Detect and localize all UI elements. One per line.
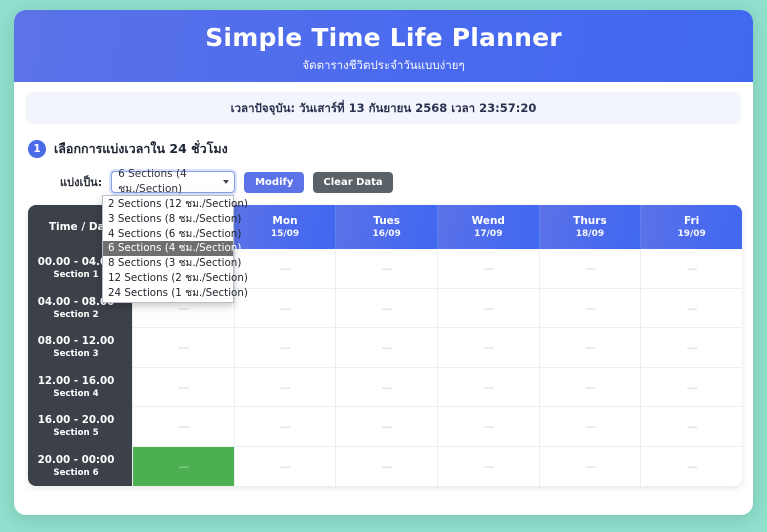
schedule-cell[interactable]: —: [234, 328, 336, 368]
cell-placeholder: —: [280, 382, 290, 393]
section-count-select-value: 6 Sections (4 ชม./Section): [118, 168, 218, 197]
dropdown-option[interactable]: 2 Sections (12 ชม./Section): [103, 197, 233, 212]
clear-data-button[interactable]: Clear Data: [313, 172, 392, 193]
cell-placeholder: —: [585, 461, 595, 472]
cell-placeholder: —: [280, 421, 290, 432]
schedule-cell[interactable]: —: [640, 447, 742, 487]
schedule-cell[interactable]: —: [437, 249, 539, 289]
schedule-cell[interactable]: —: [539, 328, 641, 368]
cell-placeholder: —: [483, 303, 493, 314]
step-one-section: 1 เลือกการแบ่งเวลาใน 24 ชั่วโมง แบ่งเป็น…: [14, 124, 753, 193]
cell-placeholder: —: [483, 382, 493, 393]
table-row: 20.00 - 00:00Section 6——————: [28, 447, 742, 487]
day-name: Mon: [235, 215, 336, 228]
cell-placeholder: —: [687, 382, 697, 393]
cell-placeholder: —: [280, 263, 290, 274]
schedule-cell[interactable]: —: [132, 328, 234, 368]
section-label: Section 4: [28, 388, 124, 400]
cell-placeholder: —: [585, 342, 595, 353]
schedule-cell[interactable]: —: [539, 249, 641, 289]
day-date: 18/09: [540, 228, 641, 240]
dropdown-option[interactable]: 12 Sections (2 ชม./Section): [103, 271, 233, 286]
day-name: Thurs: [540, 215, 641, 228]
schedule-cell[interactable]: —: [335, 368, 437, 408]
cell-placeholder: —: [382, 342, 392, 353]
cell-placeholder: —: [178, 461, 188, 472]
cell-placeholder: —: [585, 263, 595, 274]
schedule-cell[interactable]: —: [640, 368, 742, 408]
schedule-cell[interactable]: —: [640, 407, 742, 447]
day-column-header: Wend17/09: [437, 205, 539, 249]
table-row: 08.00 - 12.00Section 3——————: [28, 328, 742, 368]
schedule-cell[interactable]: —: [335, 328, 437, 368]
schedule-cell[interactable]: —: [335, 407, 437, 447]
schedule-cell[interactable]: —: [437, 407, 539, 447]
schedule-cell[interactable]: —: [132, 407, 234, 447]
schedule-cell[interactable]: —: [335, 249, 437, 289]
day-column-header: Tues16/09: [335, 205, 437, 249]
day-date: 19/09: [641, 228, 742, 240]
cell-placeholder: —: [178, 382, 188, 393]
chevron-down-icon: [223, 180, 229, 184]
cell-placeholder: —: [687, 461, 697, 472]
controls-row: แบ่งเป็น: 6 Sections (4 ชม./Section) Mod…: [60, 171, 753, 193]
time-range-cell: 16.00 - 20.00Section 5: [28, 407, 132, 447]
schedule-cell[interactable]: —: [234, 249, 336, 289]
day-column-header: Fri19/09: [640, 205, 742, 249]
day-column-header: Mon15/09: [234, 205, 336, 249]
schedule-cell[interactable]: —: [640, 289, 742, 329]
schedule-cell[interactable]: —: [335, 289, 437, 329]
cell-placeholder: —: [585, 421, 595, 432]
section-label: Section 6: [28, 467, 124, 479]
time-range-cell: 08.00 - 12.00Section 3: [28, 328, 132, 368]
cell-placeholder: —: [178, 421, 188, 432]
schedule-cell[interactable]: —: [539, 368, 641, 408]
day-column-header: Thurs18/09: [539, 205, 641, 249]
schedule-cell[interactable]: —: [234, 407, 336, 447]
table-row: 12.00 - 16.00Section 4——————: [28, 368, 742, 408]
section-label: Section 5: [28, 427, 124, 439]
schedule-cell[interactable]: —: [640, 328, 742, 368]
schedule-cell[interactable]: —: [132, 368, 234, 408]
schedule-cell[interactable]: —: [234, 447, 336, 487]
cell-placeholder: —: [687, 303, 697, 314]
dropdown-option[interactable]: 6 Sections (4 ชม./Section): [103, 241, 233, 256]
schedule-cell[interactable]: —: [234, 289, 336, 329]
day-name: Wend: [438, 215, 539, 228]
dropdown-option[interactable]: 3 Sections (8 ชม./Section): [103, 212, 233, 227]
schedule-cell[interactable]: —: [640, 249, 742, 289]
cell-placeholder: —: [382, 421, 392, 432]
cell-placeholder: —: [382, 303, 392, 314]
clock-bar-wrapper: เวลาปัจจุบัน: วันเสาร์ที่ 13 กันยายน 256…: [14, 82, 753, 124]
cell-placeholder: —: [178, 303, 188, 314]
app-header: Simple Time Life Planner จัดตารางชีวิตปร…: [14, 10, 753, 82]
time-range-cell: 20.00 - 00:00Section 6: [28, 447, 132, 487]
table-row: 16.00 - 20.00Section 5——————: [28, 407, 742, 447]
day-name: Tues: [336, 215, 437, 228]
cell-placeholder: —: [585, 382, 595, 393]
section-select-label: แบ่งเป็น:: [60, 173, 102, 191]
cell-placeholder: —: [687, 421, 697, 432]
app-card: Simple Time Life Planner จัดตารางชีวิตปร…: [14, 10, 753, 515]
section-label: Section 3: [28, 348, 124, 360]
modify-button[interactable]: Modify: [244, 172, 304, 193]
current-time-banner: เวลาปัจจุบัน: วันเสาร์ที่ 13 กันยายน 256…: [26, 92, 741, 124]
schedule-cell[interactable]: —: [437, 289, 539, 329]
day-date: 17/09: [438, 228, 539, 240]
schedule-cell[interactable]: —: [335, 447, 437, 487]
schedule-cell[interactable]: —: [539, 447, 641, 487]
time-range-label: 20.00 - 00:00: [28, 454, 124, 467]
cell-placeholder: —: [585, 303, 595, 314]
dropdown-option[interactable]: 4 Sections (6 ชม./Section): [103, 227, 233, 242]
section-label: Section 2: [28, 309, 124, 321]
schedule-cell[interactable]: —: [539, 407, 641, 447]
step-title: เลือกการแบ่งเวลาใน 24 ชั่วโมง: [54, 139, 228, 159]
dropdown-option[interactable]: 24 Sections (1 ชม./Section): [103, 286, 233, 301]
schedule-cell-active[interactable]: —: [132, 447, 234, 487]
cell-placeholder: —: [280, 461, 290, 472]
time-range-label: 16.00 - 20.00: [28, 414, 124, 427]
cell-placeholder: —: [687, 342, 697, 353]
schedule-cell[interactable]: —: [437, 328, 539, 368]
cell-placeholder: —: [280, 342, 290, 353]
schedule-cell[interactable]: —: [539, 289, 641, 329]
schedule-cell[interactable]: —: [437, 447, 539, 487]
cell-placeholder: —: [483, 263, 493, 274]
time-range-cell: 12.00 - 16.00Section 4: [28, 368, 132, 408]
cell-placeholder: —: [687, 263, 697, 274]
cell-placeholder: —: [382, 263, 392, 274]
cell-placeholder: —: [483, 461, 493, 472]
page-subtitle: จัดตารางชีวิตประจำวันแบบง่ายๆ: [14, 56, 753, 74]
time-range-label: 08.00 - 12.00: [28, 335, 124, 348]
step-heading: 1 เลือกการแบ่งเวลาใน 24 ชั่วโมง: [28, 139, 753, 159]
page-title: Simple Time Life Planner: [14, 23, 753, 53]
day-date: 15/09: [235, 228, 336, 240]
cell-placeholder: —: [382, 382, 392, 393]
cell-placeholder: —: [483, 342, 493, 353]
schedule-cell[interactable]: —: [437, 368, 539, 408]
day-name: Fri: [641, 215, 742, 228]
cell-placeholder: —: [178, 342, 188, 353]
day-date: 16/09: [336, 228, 437, 240]
section-count-select[interactable]: 6 Sections (4 ชม./Section): [111, 171, 235, 193]
cell-placeholder: —: [280, 303, 290, 314]
step-number-badge: 1: [28, 140, 46, 158]
cell-placeholder: —: [483, 421, 493, 432]
cell-placeholder: —: [382, 461, 392, 472]
dropdown-option[interactable]: 8 Sections (3 ชม./Section): [103, 256, 233, 271]
time-range-label: 12.00 - 16.00: [28, 375, 124, 388]
section-count-dropdown-menu[interactable]: 2 Sections (12 ชม./Section)3 Sections (8…: [102, 195, 234, 303]
schedule-cell[interactable]: —: [234, 368, 336, 408]
